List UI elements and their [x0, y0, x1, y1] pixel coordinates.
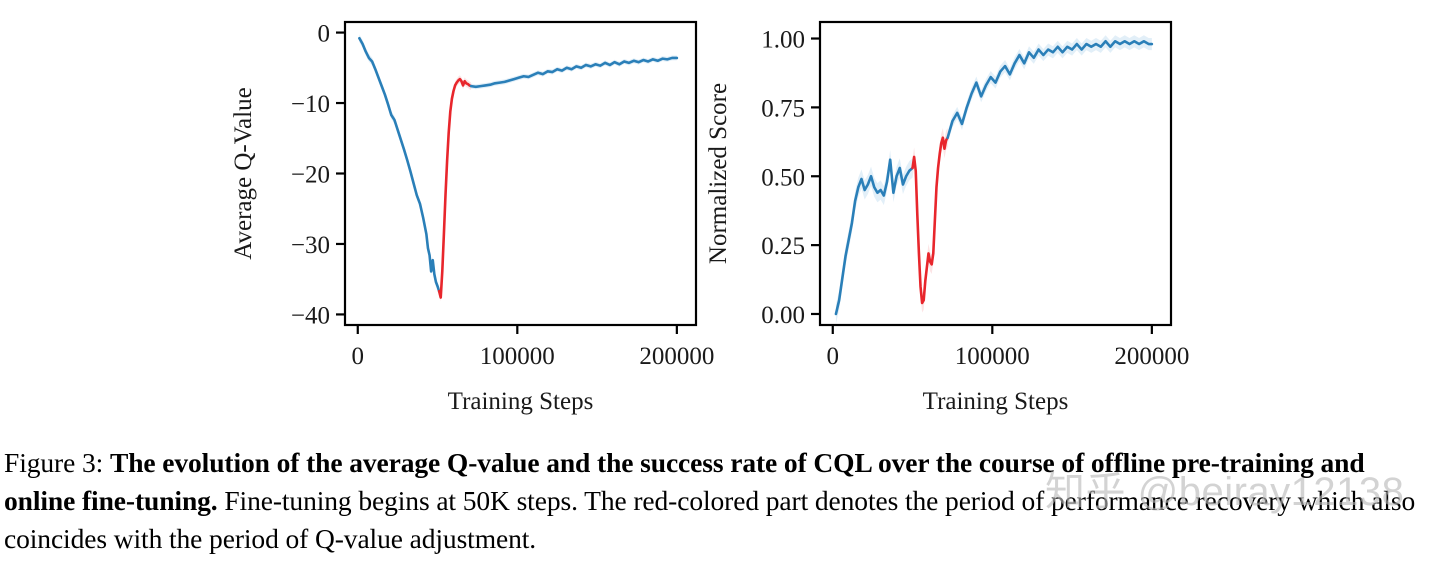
chart-left-content: 0−10−20−30−400100000200000Training Steps… — [230, 21, 714, 415]
series-confidence-band — [359, 34, 439, 295]
x-tick-label: 100000 — [955, 343, 1030, 370]
series-line — [439, 79, 471, 297]
y-tick-label: −20 — [291, 162, 330, 189]
plot-frame — [345, 22, 696, 325]
y-tick-label: 1.00 — [761, 27, 805, 54]
x-tick-label: 100000 — [480, 343, 555, 370]
caption-label: Figure 3: — [4, 447, 103, 478]
series-confidence-band — [439, 75, 471, 301]
y-tick-label: −40 — [291, 302, 330, 329]
x-axis-title: Training Steps — [448, 388, 594, 415]
x-tick-label: 200000 — [1114, 343, 1189, 370]
y-tick-label: 0.25 — [761, 233, 805, 260]
chart-normalized-score: 1.000.750.500.250.000100000200000Trainin… — [690, 0, 1190, 440]
y-axis-title: Normalized Score — [705, 83, 732, 264]
plot-panel-average-q-value: 0−10−20−30−400100000200000Training Steps… — [215, 0, 715, 440]
x-tick-label: 0 — [827, 343, 840, 370]
figure-3: 0−10−20−30−400100000200000Training Steps… — [0, 0, 1440, 566]
plot-panel-normalized-score: 1.000.750.500.250.000100000200000Trainin… — [690, 0, 1190, 440]
y-tick-label: −30 — [291, 232, 330, 259]
series-line — [359, 38, 439, 291]
series-line — [913, 138, 948, 303]
x-tick-label: 0 — [352, 343, 365, 370]
chart-right-content: 1.000.750.500.250.000100000200000Trainin… — [705, 22, 1189, 415]
chart-average-q-value: 0−10−20−30−400100000200000Training Steps… — [215, 0, 715, 440]
y-axis-title: Average Q-Value — [230, 87, 257, 259]
figure-caption: Figure 3: The evolution of the average Q… — [4, 444, 1436, 558]
y-tick-label: −10 — [291, 91, 330, 118]
y-tick-label: 0.75 — [761, 95, 805, 122]
plots-row: 0−10−20−30−400100000200000Training Steps… — [0, 0, 1440, 440]
x-axis-title: Training Steps — [923, 388, 1069, 415]
y-tick-label: 0 — [318, 21, 331, 48]
y-tick-label: 0.00 — [761, 302, 805, 329]
y-tick-label: 0.50 — [761, 164, 805, 191]
